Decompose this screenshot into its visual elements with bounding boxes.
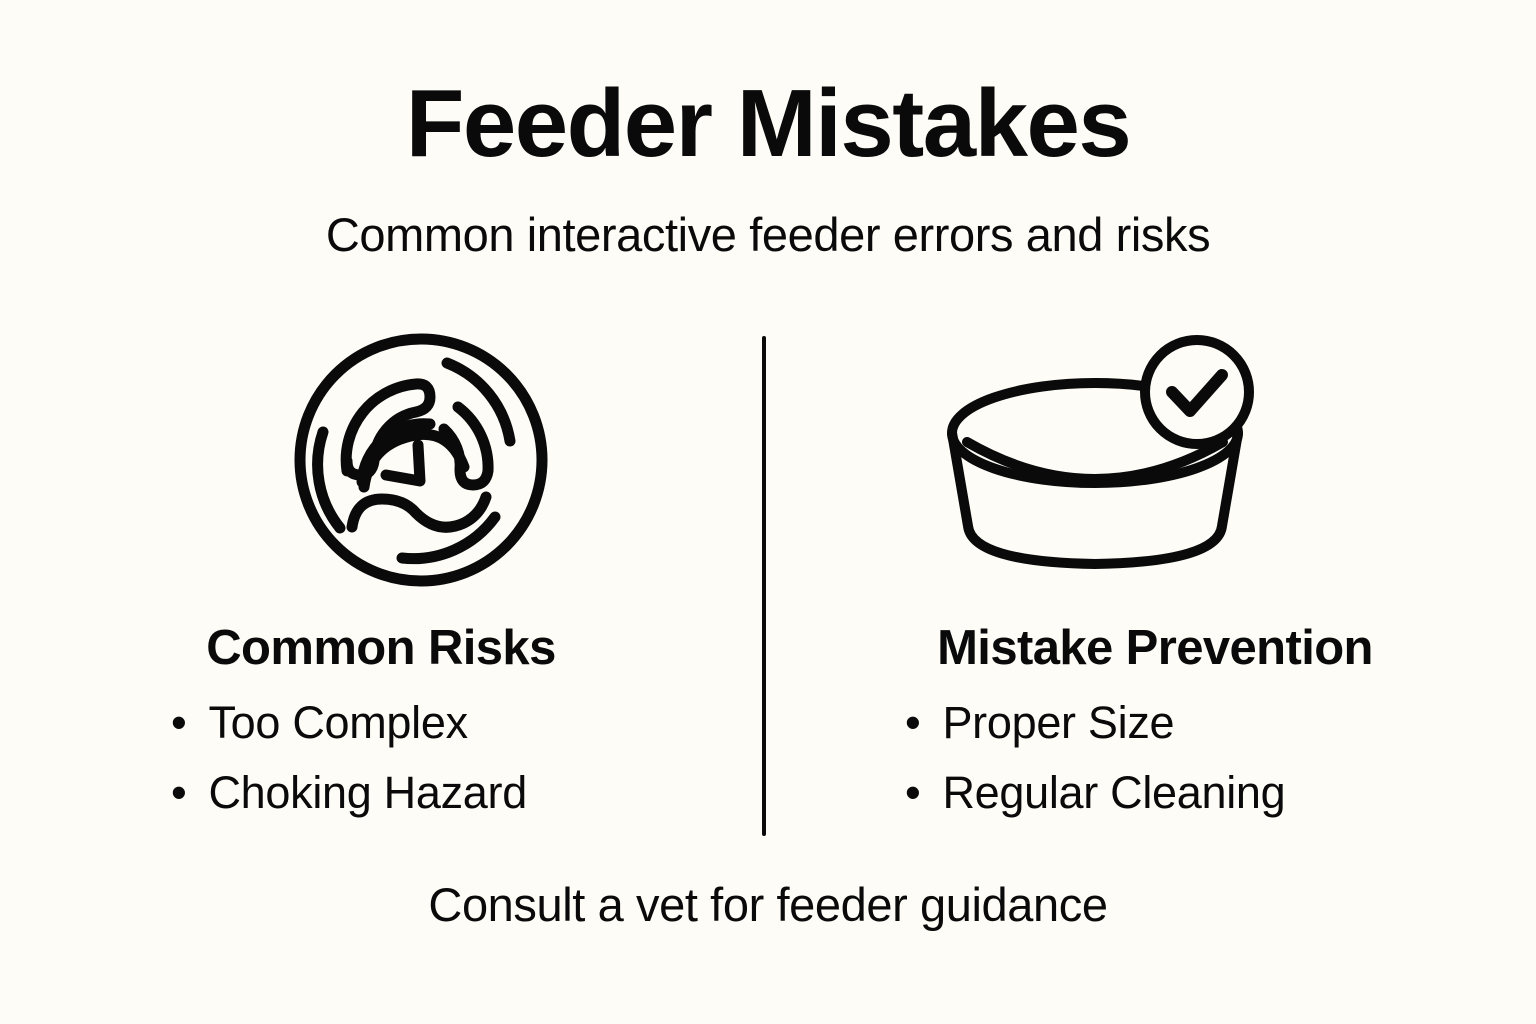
pet-bowl-check-icon — [930, 330, 1260, 580]
bullet-label: Proper Size — [942, 700, 1174, 745]
bullet-dot-icon: • — [171, 770, 186, 815]
footer-note: Consult a vet for feeder guidance — [0, 878, 1536, 932]
bullet-label: Too Complex — [208, 700, 467, 745]
bullet-dot-icon: • — [905, 770, 920, 815]
maze-circle-icon — [292, 331, 550, 589]
maze-arc-left-outer — [318, 432, 340, 528]
bullet-label: Regular Cleaning — [942, 770, 1285, 815]
bullet-list-mistake-prevention: • Proper Size • Regular Cleaning — [774, 700, 1536, 840]
column-mistake-prevention: Mistake Prevention • Proper Size • Regul… — [774, 622, 1536, 840]
list-item: • Too Complex — [0, 700, 762, 770]
bullet-dot-icon: • — [905, 700, 920, 745]
bullet-list-common-risks: • Too Complex • Choking Hazard — [0, 700, 762, 840]
list-item: • Regular Cleaning — [774, 770, 1536, 840]
column-common-risks: Common Risks • Too Complex • Choking Haz… — [0, 622, 762, 840]
page-subtitle: Common interactive feeder errors and ris… — [0, 208, 1536, 262]
column-heading-mistake-prevention: Mistake Prevention — [774, 622, 1536, 676]
column-heading-common-risks: Common Risks — [0, 622, 762, 676]
bullet-label: Choking Hazard — [208, 770, 526, 815]
list-item: • Proper Size — [774, 700, 1536, 770]
maze-arc-lower-wave — [352, 497, 486, 527]
infographic-canvas: Feeder Mistakes Common interactive feede… — [0, 0, 1536, 1024]
column-divider — [762, 336, 766, 836]
maze-circle-icon-svg — [292, 331, 550, 589]
page-title: Feeder Mistakes — [0, 74, 1536, 175]
maze-center-chevron — [386, 445, 420, 481]
check-badge-circle — [1145, 340, 1249, 444]
list-item: • Choking Hazard — [0, 770, 762, 840]
bullet-dot-icon: • — [171, 700, 186, 745]
pet-bowl-check-icon-svg — [930, 330, 1260, 580]
